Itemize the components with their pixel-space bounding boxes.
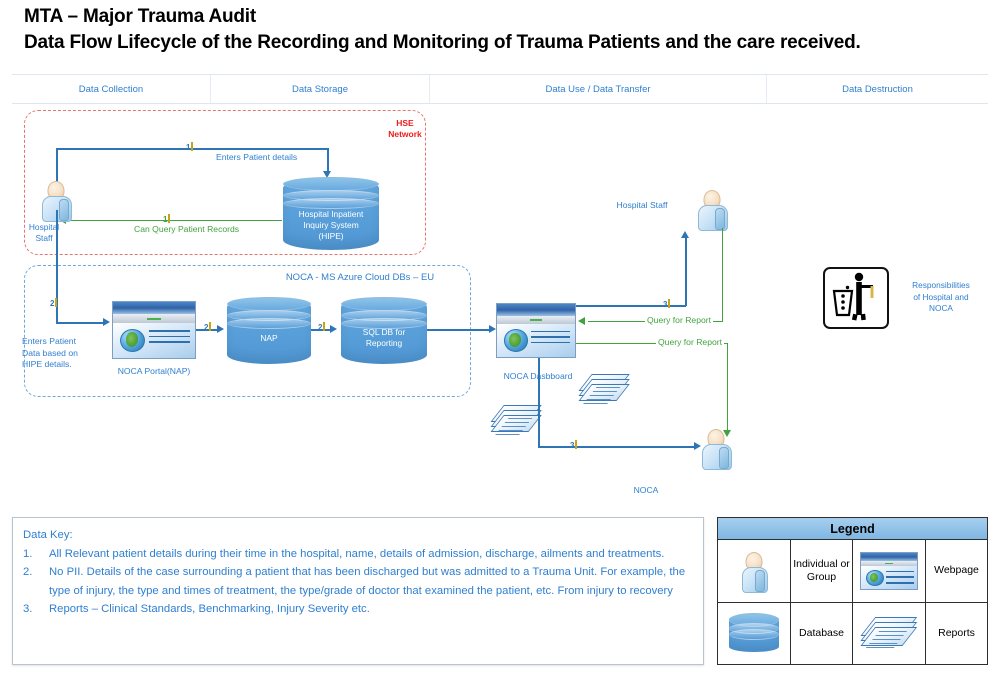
legend-icon-person [718,540,791,602]
db-top [341,297,427,311]
progress-indicator [885,563,894,564]
flow-dash-to-staff-marker: 3 [663,299,670,309]
phase-label: Data Destruction [842,84,913,95]
globe-icon [504,329,528,351]
legend-icon-webpage [853,540,926,602]
sql-label-line1: SQL DB for [341,327,427,338]
hospital-staff-right-icon [698,190,726,232]
flow-sql-to-dashboard-line [427,329,490,331]
hipe-label-line3: (HIPE) [283,231,379,242]
legend-icon-reports [853,603,926,665]
flow-dash-to-staff-arrowhead [681,231,689,238]
phase-data-collection: Data Collection [12,75,211,103]
group-hse-network-label: HSE Network [370,118,440,140]
flow-query-report-1-vertical [722,228,723,322]
data-key-item: 1. All Relevant patient details during t… [23,545,693,564]
report-text-lines [879,631,907,632]
diagram-canvas: HSE Network NOCA - MS Azure Cloud DBs – … [0,100,1000,510]
hipe-database-label: Hospital Inpatient Inquiry System (HIPE) [283,209,379,242]
db-ring-2 [283,198,379,209]
person-arm [755,570,765,592]
hospital-staff-left-label-line1: Hospital [18,222,70,233]
database-icon [729,614,779,652]
waste-bin-glyph [825,269,883,323]
phase-label: Data Collection [79,84,143,95]
flow-can-query-line [66,220,282,221]
flow-enters-details-label: Enters Patient details [216,152,297,162]
hse-label-line-2: Network [370,129,440,140]
flow-nap-to-sql-arrowhead [330,325,337,333]
data-key-panel: Data Key: 1. All Relevant patient detail… [12,517,704,665]
flow-nap-to-sql-marker: 2 [318,322,325,332]
flow-can-query-marker: 1 [163,214,170,224]
data-key-item-number: 2. [23,563,49,600]
flow-portal-to-nap-marker: 2 [204,322,211,332]
legend-icon-database [718,603,791,665]
browser-titlebar [113,302,195,314]
data-key-item: 3. Reports – Clinical Standards, Benchma… [23,600,693,619]
content-lines [531,331,570,348]
webpage-icon [860,552,918,590]
data-key-item-text: Reports – Clinical Standards, Benchmarki… [49,600,693,619]
sql-label-line2: Reporting [341,338,427,349]
data-key-item-number: 1. [23,545,49,564]
flow-portal-to-nap-arrowhead [217,325,224,333]
person-arm [719,447,729,469]
legend-label-database: Database [791,603,853,665]
content-lines [886,571,914,588]
browser-toolbar [497,316,575,324]
reports-icon [868,617,910,649]
destruction-responsibilities-label: Responsibilities of Hospital and NOCA [893,280,989,315]
flow-can-query-label: Can Query Patient Records [134,224,239,234]
person-arm [59,199,69,221]
title-line-2: Data Flow Lifecycle of the Recording and… [24,30,974,56]
legend-title: Legend [718,518,987,540]
legend-panel: Legend Individual or Group Webpage [717,517,988,665]
person-arm [715,208,725,230]
sql-database-label: SQL DB for Reporting [341,327,427,349]
flow-enters-details-segment-vertical-right [327,148,329,172]
data-key-item-text: All Relevant patient details during thei… [49,545,693,564]
browser-titlebar [861,553,917,561]
destruction-label-line1: Responsibilities [893,280,989,292]
hse-label-line-1: HSE [370,118,440,129]
legend-label-webpage: Webpage [926,540,987,602]
title-line-1: MTA – Major Trauma Audit [24,4,974,30]
flow-enters-data-marker: 2 [50,298,57,308]
group-noca-azure-cloud-label: NOCA - MS Azure Cloud DBs – EU [250,272,470,283]
phase-data-use-transfer: Data Use / Data Transfer [430,75,767,103]
progress-indicator [147,318,160,320]
data-key-heading: Data Key: [23,526,693,545]
noca-portal-webpage-icon [112,301,196,359]
flow-dash-to-staff-vertical [685,238,687,306]
legend-label-reports: Reports [926,603,987,665]
db-ring-2 [227,318,311,329]
flow-dash-to-noca-vertical [538,358,540,447]
legend-label-person: Individual or Group [791,540,853,602]
flow-enters-details-marker: 1 [186,142,193,152]
page-title: MTA – Major Trauma Audit Data Flow Lifec… [24,4,974,56]
flow-query-report-1-arrowhead [578,317,585,325]
progress-indicator [530,319,542,321]
reports-icon-lower [497,405,535,435]
nap-database-label: NAP [227,333,311,344]
data-key-item-number: 3. [23,600,49,619]
legend-row: Individual or Group Webpage [718,540,987,603]
person-icon [742,552,766,589]
phase-label: Data Use / Data Transfer [545,84,650,95]
hospital-staff-right-label: Hospital Staff [602,200,682,210]
phase-label: Data Storage [292,84,348,95]
hospital-staff-left-label: Hospital Staff [18,222,70,244]
db-top [227,297,311,311]
noca-portal-label: NOCA Portal(NAP) [104,366,204,376]
enters-data-line3: HIPE details. [22,359,94,371]
content-lines [149,330,190,347]
legend-row: Database Reports [718,603,987,665]
flow-dash-to-noca-arrowhead [694,442,701,450]
db-top [283,177,379,191]
globe-icon [866,570,884,586]
report-text-lines [595,387,620,388]
report-text-lines [507,418,532,419]
hipe-database-icon: Hospital Inpatient Inquiry System (HIPE) [283,178,379,250]
flow-dash-to-noca-marker: 3 [570,440,577,450]
flow-dash-to-noca-horizontal [538,446,695,448]
phase-data-storage: Data Storage [211,75,430,103]
flow-enters-data-horizontal [56,322,105,324]
browser-titlebar [497,304,575,316]
flow-sql-to-dashboard-arrowhead [489,325,496,333]
nap-database-icon: NAP [227,298,311,364]
data-key-item: 2. No PII. Details of the case surroundi… [23,563,693,600]
reports-icon-upper [585,374,623,404]
flow-enters-data-label: Enters Patient Data based on HIPE detail… [22,336,94,371]
destruction-label-line2: of Hospital and [893,292,989,304]
enters-data-line2: Data based on [22,348,94,360]
destruction-label-line3: NOCA [893,303,989,315]
hipe-label-line1: Hospital Inpatient [283,209,379,220]
flow-enters-data-arrowhead [103,318,110,326]
flow-query-report-2-label: Query for Report [656,337,724,347]
enters-data-line1: Enters Patient [22,336,94,348]
hospital-staff-left-label-line2: Staff [18,233,70,244]
noca-person-icon [702,429,730,471]
waste-bin-icon [823,267,889,329]
flow-query-report-1-label: Query for Report [645,315,713,325]
browser-toolbar [113,314,195,323]
noca-person-label: NOCA [606,485,686,495]
flow-query-report-2-vertical [727,343,728,431]
sql-reporting-database-icon: SQL DB for Reporting [341,298,427,364]
noca-dashboard-webpage-icon [496,303,576,358]
data-key-item-text: No PII. Details of the case surrounding … [49,563,693,600]
phase-data-destruction: Data Destruction [767,75,988,103]
hipe-label-line2: Inquiry System [283,220,379,231]
